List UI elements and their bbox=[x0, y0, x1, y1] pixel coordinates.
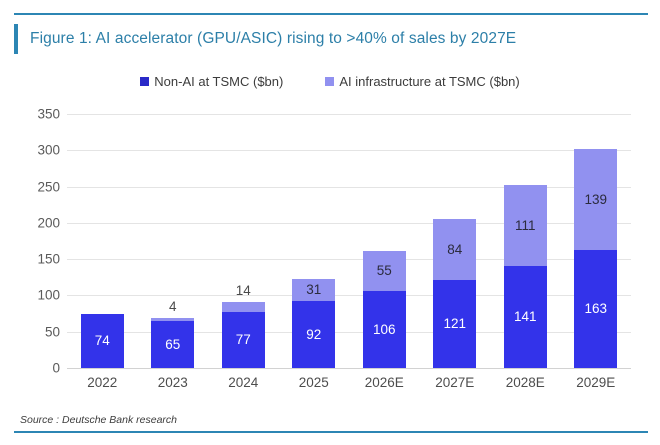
bar-segment-ai-infrastructure[interactable]: 111 bbox=[504, 185, 547, 266]
bar-value-label: 92 bbox=[306, 328, 321, 342]
x-axis-tick-label: 2024 bbox=[208, 375, 279, 390]
y-axis-tick-label: 100 bbox=[10, 288, 60, 303]
x-axis-line bbox=[67, 368, 631, 369]
y-axis-tick-label: 250 bbox=[10, 179, 60, 194]
plot-area: 74654771492311065512184141111163139 bbox=[67, 114, 631, 368]
bar-segment-ai-infrastructure[interactable] bbox=[151, 318, 194, 321]
stacked-bar-chart: 050100150200250300350 746547714923110655… bbox=[0, 0, 660, 445]
bar-value-label: 77 bbox=[236, 333, 251, 347]
x-axis-tick-label: 2029E bbox=[561, 375, 632, 390]
x-axis-tick-label: 2028E bbox=[490, 375, 561, 390]
bar-group[interactable]: 7714 bbox=[222, 114, 265, 368]
bar-group[interactable]: 141111 bbox=[504, 114, 547, 368]
bar-segment-ai-infrastructure[interactable]: 31 bbox=[292, 279, 335, 301]
bar-segment-non-ai[interactable]: 65 bbox=[151, 321, 194, 368]
bar-value-label: 106 bbox=[373, 323, 396, 337]
bar-value-label: 139 bbox=[584, 193, 607, 207]
y-axis-tick-label: 300 bbox=[10, 143, 60, 158]
y-axis-tick-label: 350 bbox=[10, 107, 60, 122]
bar-value-label: 4 bbox=[151, 299, 194, 314]
y-axis-tick-label: 50 bbox=[10, 324, 60, 339]
bar-segment-non-ai[interactable]: 92 bbox=[292, 301, 335, 368]
bar-segment-ai-infrastructure[interactable]: 55 bbox=[363, 251, 406, 291]
bar-value-label: 84 bbox=[447, 243, 462, 257]
bar-group[interactable]: 163139 bbox=[574, 114, 617, 368]
bar-segment-non-ai[interactable]: 141 bbox=[504, 266, 547, 368]
x-axis-tick-label: 2022 bbox=[67, 375, 138, 390]
bar-group[interactable]: 654 bbox=[151, 114, 194, 368]
bar-value-label: 14 bbox=[222, 283, 265, 298]
bar-segment-non-ai[interactable]: 77 bbox=[222, 312, 265, 368]
bar-value-label: 55 bbox=[377, 264, 392, 278]
x-axis-tick-label: 2023 bbox=[138, 375, 209, 390]
bar-value-label: 31 bbox=[306, 283, 321, 297]
y-axis-tick-label: 0 bbox=[10, 361, 60, 376]
bar-value-label: 141 bbox=[514, 310, 537, 324]
bar-value-label: 111 bbox=[515, 219, 536, 233]
bar-segment-non-ai[interactable]: 74 bbox=[81, 314, 124, 368]
bar-value-label: 121 bbox=[443, 317, 466, 331]
bar-segment-ai-infrastructure[interactable]: 84 bbox=[433, 219, 476, 280]
x-axis-tick-label: 2027E bbox=[420, 375, 491, 390]
y-axis-tick-label: 200 bbox=[10, 215, 60, 230]
bar-segment-ai-infrastructure[interactable]: 139 bbox=[574, 149, 617, 250]
figure-panel: Figure 1: AI accelerator (GPU/ASIC) risi… bbox=[0, 0, 660, 445]
bar-segment-ai-infrastructure[interactable] bbox=[222, 302, 265, 312]
bar-segment-non-ai[interactable]: 163 bbox=[574, 250, 617, 368]
x-axis-tick-label: 2025 bbox=[279, 375, 350, 390]
source-note: Source : Deutsche Bank research bbox=[20, 414, 177, 426]
bar-group[interactable]: 10655 bbox=[363, 114, 406, 368]
bar-group[interactable]: 9231 bbox=[292, 114, 335, 368]
bar-value-label: 74 bbox=[95, 334, 110, 348]
bar-segment-non-ai[interactable]: 121 bbox=[433, 280, 476, 368]
x-axis: 20222023202420252026E2027E2028E2029E bbox=[67, 375, 631, 397]
x-axis-tick-label: 2026E bbox=[349, 375, 420, 390]
bar-value-label: 65 bbox=[165, 338, 180, 352]
footer-divider-bottom bbox=[14, 431, 648, 433]
y-axis-tick-label: 150 bbox=[10, 252, 60, 267]
bar-group[interactable]: 74 bbox=[81, 114, 124, 368]
bar-segment-non-ai[interactable]: 106 bbox=[363, 291, 406, 368]
bar-value-label: 163 bbox=[584, 302, 607, 316]
bar-group[interactable]: 12184 bbox=[433, 114, 476, 368]
